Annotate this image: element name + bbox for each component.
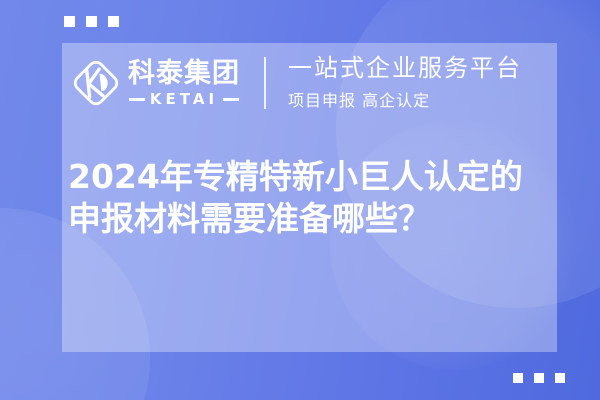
brand-wordmark: 科泰集团 KETAI [128, 60, 240, 107]
page-title: 2024年专精特新小巨人认定的申报材料需要准备哪些？ [68, 156, 550, 240]
brand-name-cn: 科泰集团 [128, 60, 240, 87]
decorative-dots-top-left [64, 16, 119, 27]
brand-divider [264, 57, 266, 109]
tagline-block: 一站式企业服务平台 项目申报 高企认定 [288, 55, 522, 112]
content-panel: 科泰集团 KETAI 一站式企业服务平台 项目申报 高企认定 2024年专精特新… [62, 43, 557, 352]
brand-name-en-row: KETAI [128, 92, 240, 107]
brand-name-en: KETAI [150, 92, 218, 107]
ketai-diamond-kd-logo-icon [68, 55, 124, 111]
decorative-square [534, 373, 544, 383]
decorative-square [555, 373, 565, 383]
brand-rule-left [129, 98, 145, 101]
decorative-square [64, 16, 75, 27]
decorative-dots-bottom-right [513, 373, 565, 383]
brand-header: 科泰集团 KETAI 一站式企业服务平台 项目申报 高企认定 [62, 43, 557, 123]
brand-lockup: 科泰集团 KETAI [68, 55, 240, 111]
brand-rule-right [223, 98, 239, 101]
promo-banner: 科泰集团 KETAI 一站式企业服务平台 项目申报 高企认定 2024年专精特新… [0, 0, 600, 400]
tagline-main: 一站式企业服务平台 [288, 55, 522, 82]
decorative-square [108, 16, 119, 27]
tagline-sub: 项目申报 高企认定 [288, 87, 522, 111]
decorative-square [86, 16, 97, 27]
decorative-square [513, 373, 523, 383]
